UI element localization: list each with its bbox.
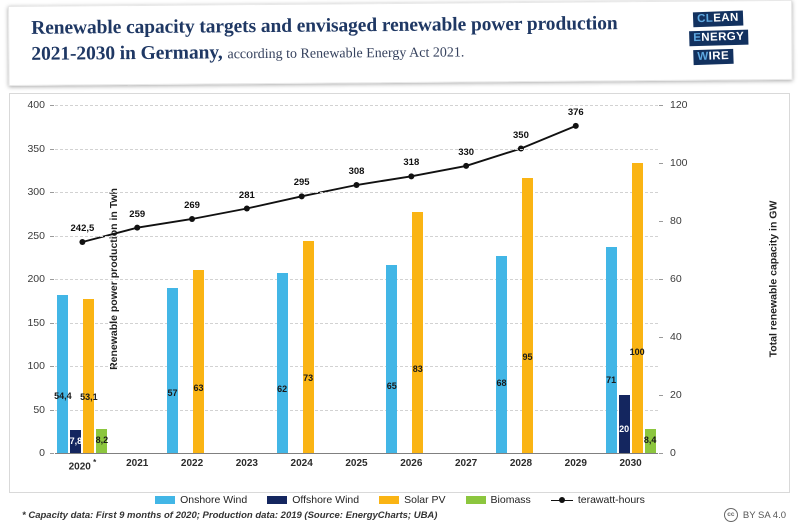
y-axis-right-tick: 40 [670,331,702,343]
gridline [55,279,658,280]
y-axis-left-tick: 350 [11,143,45,155]
y-axis-left-tick: 0 [11,447,45,459]
x-axis-line [55,453,658,454]
y-axis-right-tickmark [659,105,663,106]
y-axis-left-tick: 150 [11,317,45,329]
bar-value-label: 20 [619,424,629,434]
line-point-label: 350 [513,130,529,141]
y-axis-right-tick: 60 [670,273,702,285]
x-axis-tick-label: 2026 [400,458,422,469]
header-banner: Renewable capacity targets and envisaged… [8,0,793,86]
legend-color-swatch [155,496,175,504]
legend-label: terawatt-hours [578,494,645,506]
y-axis-left-tickmark [50,149,54,150]
line-point-label: 281 [239,190,255,201]
y-axis-left-tickmark [50,236,54,237]
chart-page: Renewable capacity targets and envisaged… [0,0,800,530]
header-text-block: Renewable capacity targets and envisaged… [31,11,651,70]
line-point-label: 308 [349,166,365,177]
gridline [55,149,658,150]
line-point-label: 295 [294,177,310,188]
legend-item-onshore-wind[interactable]: Onshore Wind [155,494,247,506]
bar-value-label: 54,4 [54,391,72,401]
x-axis-tick-label: 2021 [126,458,148,469]
logo-wire-suffix: IRE [708,50,729,63]
bar-onshore-wind: 71 [606,247,617,453]
y-axis-right-tick: 120 [670,99,702,111]
gridline [55,366,658,367]
y-axis-left-tick: 100 [11,360,45,372]
bar-onshore-wind: 57 [167,288,178,453]
line-point-label: 242,5 [71,223,95,234]
legend-item-terawatt-hours[interactable]: terawatt-hours [551,494,645,506]
line-point-label: 330 [458,147,474,158]
y-axis-right-title: Total renewable capacity in GW [767,201,779,358]
bar-solar-pv: 83 [412,212,423,453]
y-axis-left-tick: 50 [11,404,45,416]
bar-onshore-wind: 54,4 [57,295,68,453]
y-axis-left-tick: 250 [11,230,45,242]
line-point-label: 259 [129,209,145,220]
x-axis-tick-label: 2024 [291,458,313,469]
legend-label: Solar PV [404,494,445,506]
y-axis-left-tickmark [50,279,54,280]
x-axis-tick-label: 2029 [565,458,587,469]
x-axis-tick-label: 2027 [455,458,477,469]
line-point-label: 318 [403,157,419,168]
x-axis-tick-label: 2022 [181,458,203,469]
bar-onshore-wind: 62 [277,273,288,453]
bar-biomass: 8,4 [645,429,656,453]
gridline [55,410,658,411]
bar-solar-pv: 63 [193,270,204,453]
bar-value-label: 8,2 [96,435,109,445]
legend-item-solar-pv[interactable]: Solar PV [379,494,445,506]
y-axis-left-tick: 200 [11,273,45,285]
y-axis-left-tick: 400 [11,99,45,111]
bar-value-label: 57 [168,388,178,398]
bar-solar-pv: 53,1 [83,299,94,453]
bar-value-label: 95 [522,352,532,362]
y-axis-left-tickmark [50,323,54,324]
legend-color-swatch [466,496,486,504]
bar-value-label: 63 [194,383,204,393]
legend-label: Onshore Wind [180,494,247,506]
creative-commons-icon: cc [724,508,738,522]
bar-value-label: 83 [413,364,423,374]
page-title: Renewable capacity targets and envisaged… [31,11,651,70]
x-axis-tick-label: 2023 [236,458,258,469]
license-label: BY SA 4.0 [743,510,786,521]
y-axis-right-tick: 0 [670,447,702,459]
legend-color-swatch [267,496,287,504]
bar-value-label: 100 [630,347,645,357]
legend-color-swatch [379,496,399,504]
y-axis-right-tickmark [659,395,663,396]
x-axis-tick-label: 2025 [345,458,367,469]
y-axis-left-tickmark [50,453,54,454]
x-axis-tick-label: 2028 [510,458,532,469]
logo-line-energy: ENERGY [689,30,748,47]
legend-item-biomass[interactable]: Biomass [466,494,531,506]
gridline [55,236,658,237]
bar-value-label: 71 [606,375,616,385]
y-axis-right-tickmark [659,279,663,280]
y-axis-right-tick: 100 [670,157,702,169]
bar-value-label: 7,8 [70,436,83,446]
bar-solar-pv: 95 [522,178,533,454]
bar-onshore-wind: 68 [496,256,507,453]
y-axis-right-tickmark [659,337,663,338]
legend-item-offshore-wind[interactable]: Offshore Wind [267,494,359,506]
y-axis-left-tickmark [50,105,54,106]
legend-line-marker-icon [551,496,573,505]
bar-offshore-wind: 7,8 [70,430,81,453]
y-axis-right-tickmark [659,453,663,454]
x-axis-tick-label: 2020 * [69,458,97,472]
gridline [55,192,658,193]
bar-value-label: 8,4 [644,435,657,445]
bar-onshore-wind: 65 [386,265,397,454]
logo-line-clean: CLEAN [693,11,743,28]
bar-value-label: 62 [277,384,287,394]
chart-legend: Onshore WindOffshore WindSolar PVBiomass… [0,492,800,508]
bar-value-label: 68 [496,378,506,388]
y-axis-right-tickmark [659,163,663,164]
legend-label: Offshore Wind [292,494,359,506]
gridline [55,105,658,106]
license-badge: cc BY SA 4.0 [724,508,786,522]
logo-line-wire: WIRE [693,49,733,65]
plot-area: Renewable power production in Twh Total … [55,105,658,453]
y-axis-left-tick: 300 [11,186,45,198]
logo-clean-prefix: CL [697,13,714,26]
bar-value-label: 53,1 [80,392,98,402]
y-axis-right-tickmark [659,221,663,222]
bar-value-label: 65 [387,381,397,391]
bar-biomass: 8,2 [96,429,107,453]
logo-energy-suffix: NERGY [701,31,744,44]
clean-energy-wire-logo: CLEAN ENERGY WIRE [689,11,773,70]
logo-clean-suffix: EAN [713,12,739,25]
line-point-label: 376 [568,107,584,118]
bar-value-label: 73 [303,373,313,383]
y-axis-right-tick: 80 [670,215,702,227]
bar-offshore-wind: 20 [619,395,630,453]
page-subtitle: according to Renewable Energy Act 2021. [227,45,464,62]
legend-label: Biomass [491,494,531,506]
bar-solar-pv: 100 [632,163,643,453]
gridline [55,323,658,324]
footnote: * Capacity data: First 9 months of 2020;… [22,510,437,521]
x-axis-tick-label: 2030 [619,458,641,469]
y-axis-left-tickmark [50,366,54,367]
x-axis-labels: 2020 *2021202220232024202520262027202820… [55,458,658,474]
line-point-label: 269 [184,200,200,211]
logo-wire-prefix: W [697,51,709,63]
y-axis-left-tickmark [50,192,54,193]
y-axis-left-tickmark [50,410,54,411]
y-axis-right-tick: 20 [670,389,702,401]
bar-solar-pv: 73 [303,241,314,453]
